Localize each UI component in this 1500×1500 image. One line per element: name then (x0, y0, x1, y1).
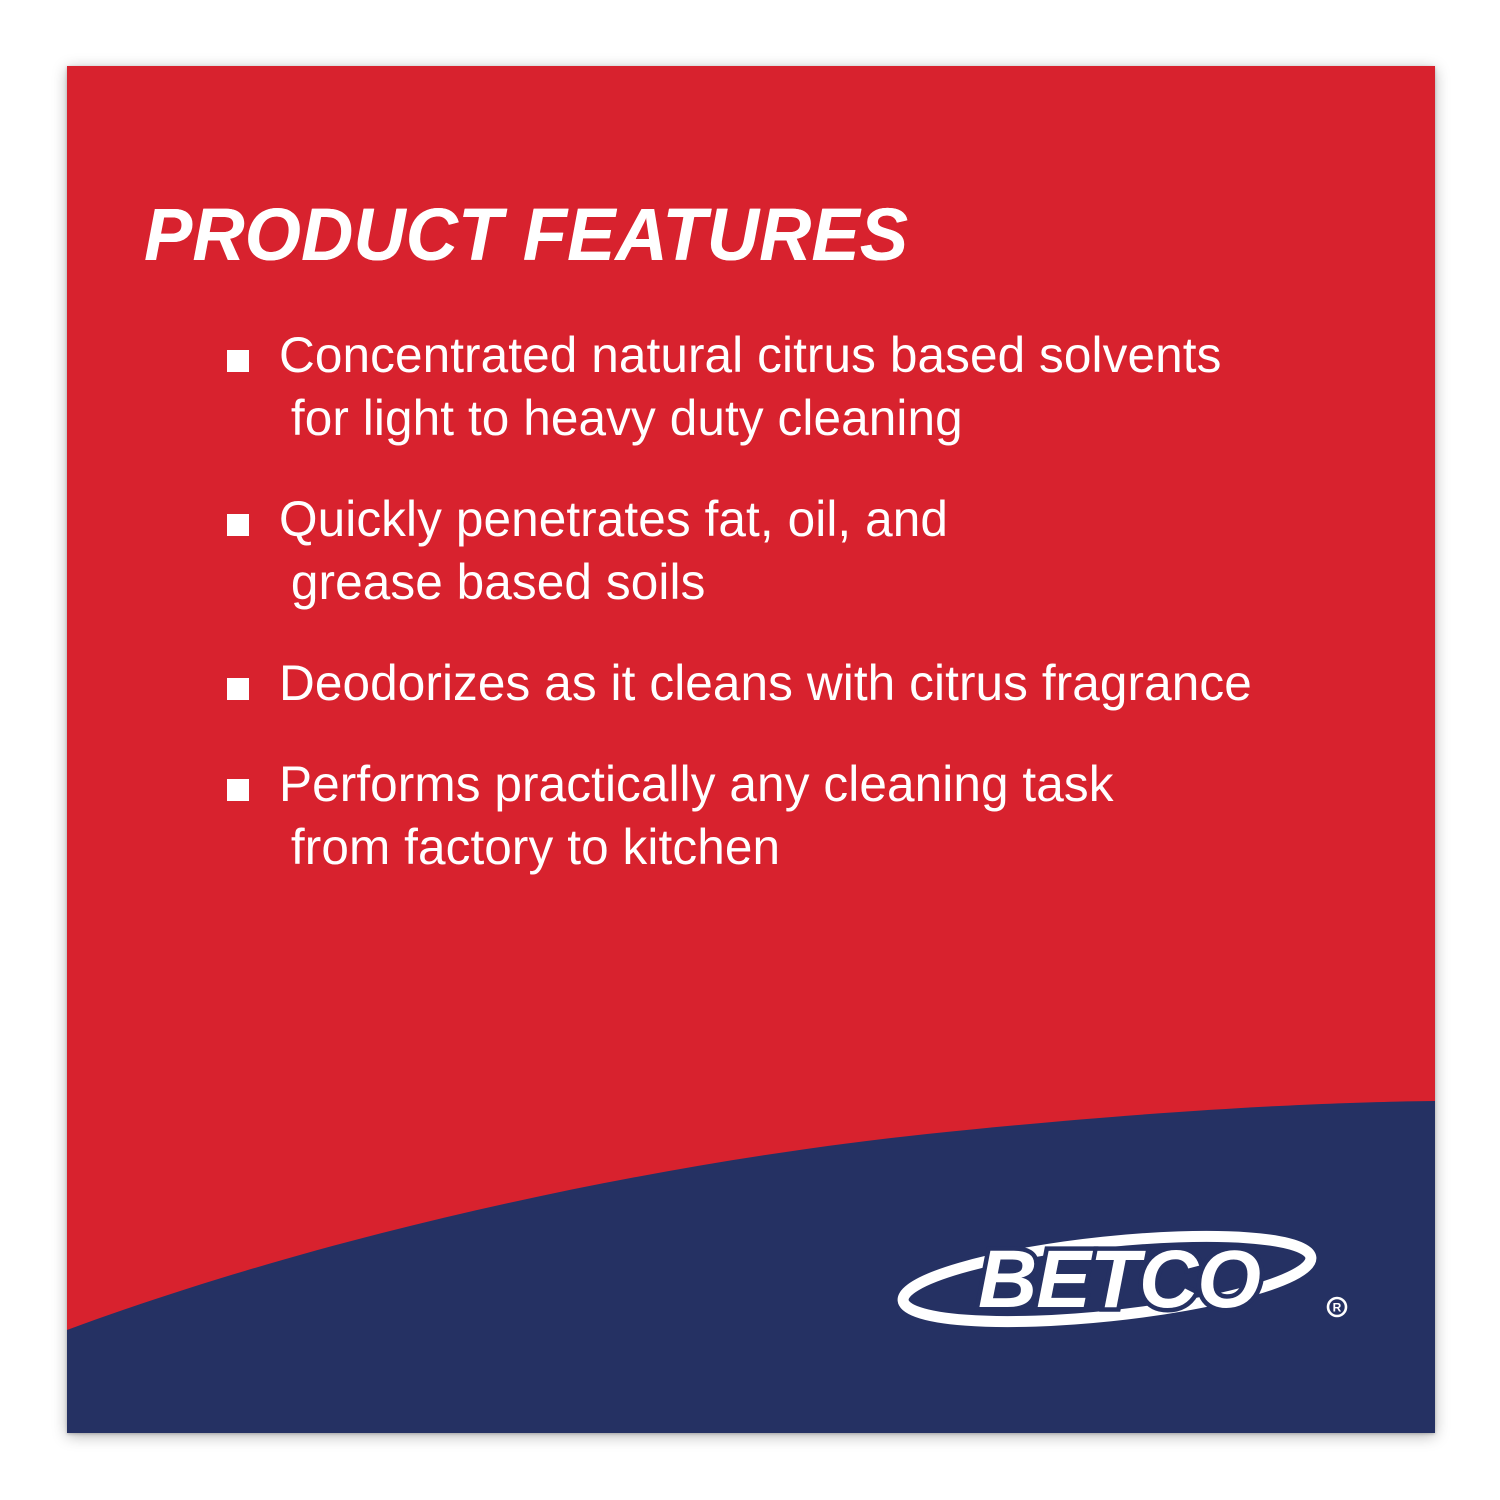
list-item: Performs practically any cleaning task f… (227, 753, 1407, 879)
feature-line: Performs practically any cleaning task (279, 753, 1114, 816)
feature-text: Concentrated natural citrus based solven… (279, 324, 1221, 450)
registered-trademark-icon: R (1328, 1298, 1346, 1316)
logo-wordmark-text: BETCO (887, 1336, 888, 1337)
list-item: Quickly penetrates fat, oil, and grease … (227, 488, 1407, 614)
feature-text: Performs practically any cleaning task f… (279, 753, 1114, 879)
feature-text: Deodorizes as it cleans with citrus frag… (279, 652, 1252, 715)
list-item: Concentrated natural citrus based solven… (227, 324, 1407, 450)
feature-line: grease based soils (279, 551, 948, 614)
square-bullet-icon (227, 678, 249, 700)
logo-wordmark: BETCO (978, 1234, 1260, 1325)
feature-line: for light to heavy duty cleaning (279, 387, 1221, 450)
page-title: PRODUCT FEATURES (144, 198, 908, 272)
feature-list: Concentrated natural citrus based solven… (227, 324, 1407, 879)
square-bullet-icon (227, 514, 249, 536)
square-bullet-icon (227, 350, 249, 372)
feature-text: Quickly penetrates fat, oil, and grease … (279, 488, 948, 614)
feature-line: Concentrated natural citrus based solven… (279, 324, 1221, 387)
svg-text:R: R (1333, 1301, 1342, 1315)
betco-logo: BETCO R BETCO (887, 1221, 1357, 1336)
list-item: Deodorizes as it cleans with citrus frag… (227, 652, 1407, 715)
screenshot-root: PRODUCT FEATURES Concentrated natural ci… (0, 0, 1500, 1500)
feature-line: Deodorizes as it cleans with citrus frag… (279, 652, 1252, 715)
product-features-card: PRODUCT FEATURES Concentrated natural ci… (67, 66, 1435, 1433)
square-bullet-icon (227, 779, 249, 801)
svg-text:BETCO: BETCO (978, 1234, 1260, 1325)
feature-line: from factory to kitchen (279, 816, 1114, 879)
feature-line: Quickly penetrates fat, oil, and (279, 488, 948, 551)
